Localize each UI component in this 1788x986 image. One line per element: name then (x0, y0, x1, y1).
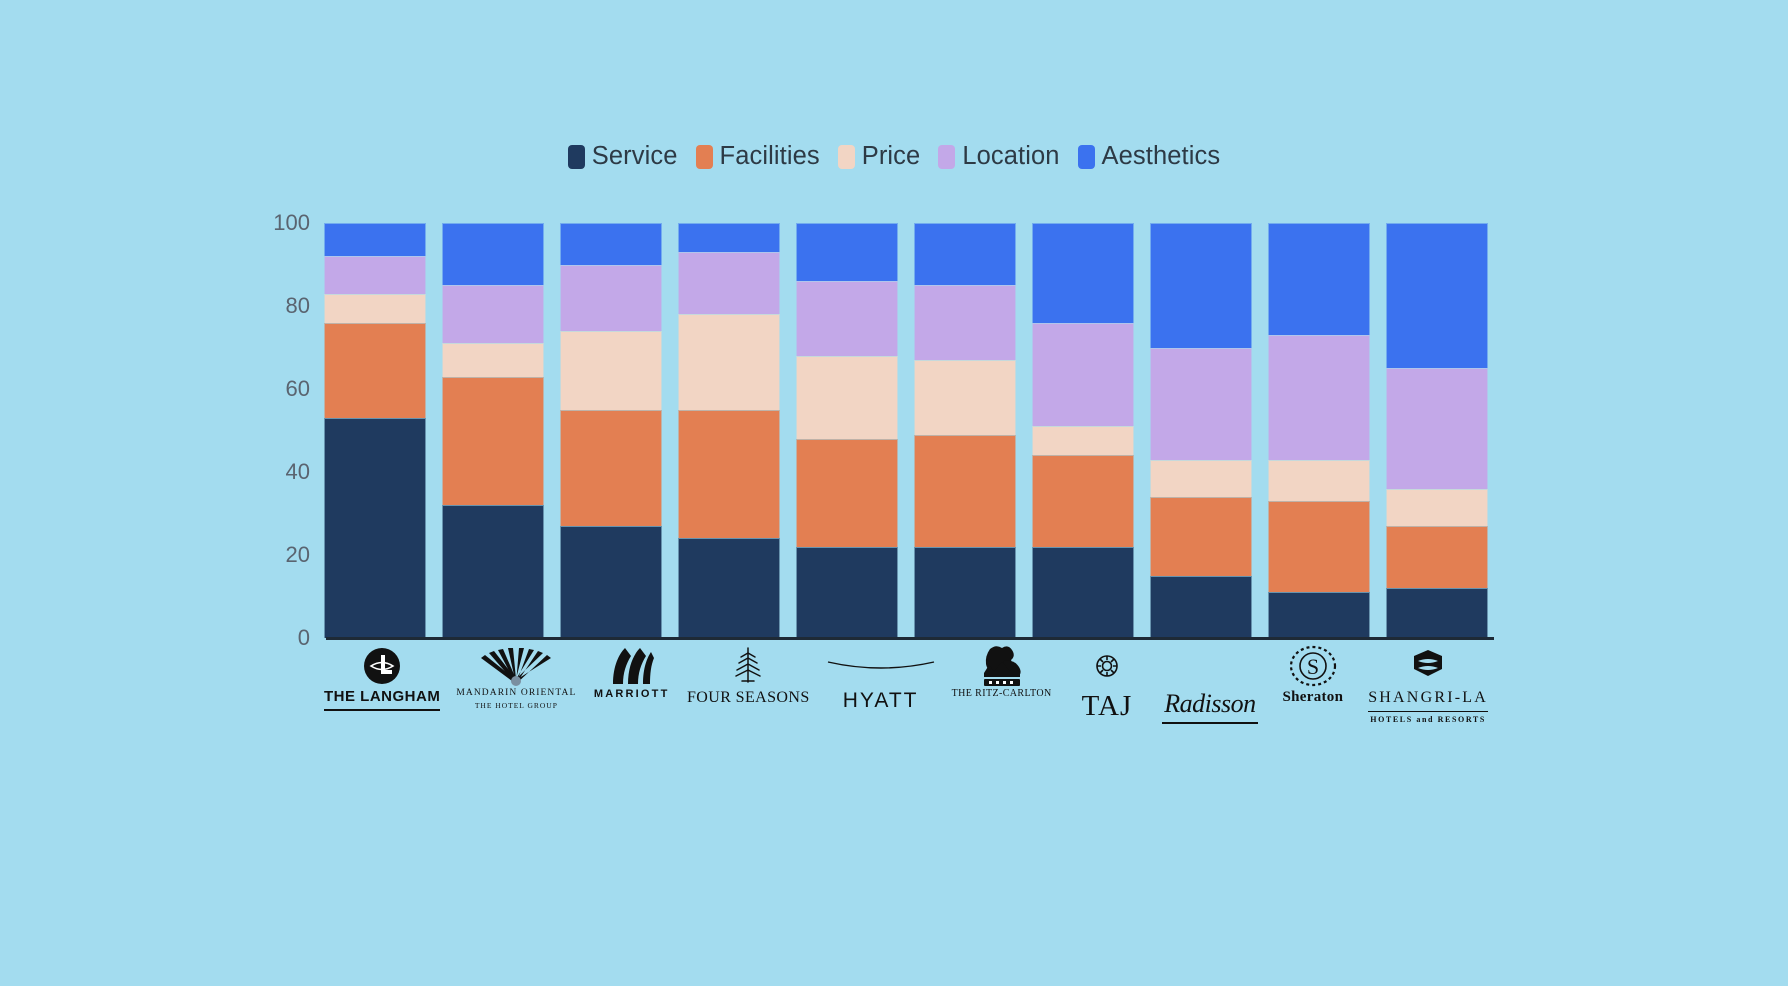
bar-segment-facilities[interactable] (1386, 526, 1488, 588)
bar-segment-aesthetics[interactable] (1386, 223, 1488, 368)
bar-segment-facilities[interactable] (1032, 455, 1134, 546)
legend-swatch-service (568, 145, 585, 169)
bar-segment-aesthetics[interactable] (442, 223, 544, 285)
bar-segment-aesthetics[interactable] (1150, 223, 1252, 348)
legend-swatch-facilities (696, 145, 713, 169)
bar-segment-aesthetics[interactable] (324, 223, 426, 256)
bar-segment-location[interactable] (1386, 368, 1488, 488)
svg-text:S: S (1307, 654, 1319, 679)
legend-label: Aesthetics (1102, 142, 1221, 171)
bar-column-radisson[interactable] (1150, 223, 1252, 638)
bar-segment-service[interactable] (678, 538, 780, 638)
hyatt-swoosh-icon (826, 644, 936, 688)
bar-segment-aesthetics[interactable] (678, 223, 780, 252)
marriott-m-icon (609, 644, 655, 688)
bar-segment-aesthetics[interactable] (560, 223, 662, 265)
bar-segment-facilities[interactable] (678, 410, 780, 539)
legend-swatch-price (838, 145, 855, 169)
legend-label: Price (862, 142, 921, 171)
legend-label: Service (592, 142, 678, 171)
y-axis-tick-60: 60 (258, 376, 310, 402)
bar-segment-location[interactable] (678, 252, 780, 314)
y-axis-tick-20: 20 (258, 542, 310, 568)
bar-segment-location[interactable] (914, 285, 1016, 360)
bar-column-the-langham[interactable] (324, 223, 426, 638)
brand-name-label: THE RITZ-CARLTON (952, 688, 1052, 701)
bar-segment-service[interactable] (914, 547, 1016, 638)
bar-segment-service[interactable] (796, 547, 898, 638)
legend-entry-facilities[interactable]: Facilities (696, 142, 820, 171)
bar-segment-service[interactable] (1032, 547, 1134, 638)
bar-segment-facilities[interactable] (324, 323, 426, 418)
bar-segment-location[interactable] (796, 281, 898, 356)
brand-name-label: TAJ (1082, 688, 1133, 724)
bar-segment-service[interactable] (324, 418, 426, 638)
bar-segment-price[interactable] (1150, 460, 1252, 497)
bar-segment-facilities[interactable] (442, 377, 544, 506)
legend-entry-location[interactable]: Location (938, 142, 1059, 171)
bar-segment-service[interactable] (1268, 592, 1370, 638)
brand-name-label: Radisson (1162, 688, 1257, 724)
bar-segment-location[interactable] (1032, 323, 1134, 427)
bar-segment-aesthetics[interactable] (1032, 223, 1134, 323)
brand-logo-hyatt: HYATT (826, 644, 936, 734)
bar-segment-price[interactable] (1268, 460, 1370, 502)
brand-logo-sheraton: SSheraton (1274, 644, 1353, 734)
brand-name-label: THE LANGHAM (324, 688, 440, 711)
brand-name-label: FOUR SEASONS (687, 688, 810, 708)
bar-segment-facilities[interactable] (560, 410, 662, 526)
bar-segment-service[interactable] (560, 526, 662, 638)
legend-swatch-aesthetics (1078, 145, 1095, 169)
bar-segment-price[interactable] (324, 294, 426, 323)
bar-column-hyatt[interactable] (796, 223, 898, 638)
bar-column-shangri-la[interactable] (1386, 223, 1488, 638)
brand-logo-radisson: Radisson (1162, 644, 1257, 734)
bar-segment-price[interactable] (796, 356, 898, 439)
brand-logo-the-langham: THE LANGHAM (324, 644, 440, 734)
taj-star-icon (1094, 644, 1120, 688)
y-axis-tick-0: 0 (258, 625, 310, 651)
legend-swatch-location (938, 145, 955, 169)
bar-segment-location[interactable] (1268, 335, 1370, 460)
bar-segment-facilities[interactable] (1268, 501, 1370, 592)
brand-logo-taj: TAJ (1068, 644, 1147, 734)
bar-segment-location[interactable] (442, 285, 544, 343)
brand-logo-marriott: MARRIOTT (592, 644, 671, 734)
bar-column-mandarin-oriental[interactable] (442, 223, 544, 638)
plot-area: 020406080100 (316, 223, 1496, 638)
brand-logo-shangri-la: SHANGRI-LAHOTELS and RESORTS (1368, 644, 1488, 734)
bar-segment-location[interactable] (324, 256, 426, 293)
bar-column-four-seasons[interactable] (678, 223, 780, 638)
bar-segment-service[interactable] (442, 505, 544, 638)
brand-logo-four-seasons: FOUR SEASONS (687, 644, 810, 734)
brand-name-label: Sheraton (1283, 688, 1344, 707)
bar-segment-service[interactable] (1150, 576, 1252, 638)
langham-monogram-icon (362, 644, 402, 688)
bar-column-the-ritz-carlton[interactable] (914, 223, 1016, 638)
shangri-la-emblem-icon (1410, 644, 1446, 688)
brand-tagline-label: HOTELS and RESORTS (1370, 715, 1486, 724)
brand-tagline-label: THE HOTEL GROUP (475, 701, 558, 710)
bar-segment-aesthetics[interactable] (914, 223, 1016, 285)
chart-legend: ServiceFacilitiesPriceLocationAesthetics (0, 142, 1788, 171)
y-axis-tick-100: 100 (258, 210, 310, 236)
bar-segment-price[interactable] (1032, 426, 1134, 455)
stacked-bar-chart: ServiceFacilitiesPriceLocationAesthetics… (0, 0, 1788, 986)
bar-segment-facilities[interactable] (796, 439, 898, 547)
brand-name-label: SHANGRI-LA (1368, 688, 1488, 712)
y-axis: 020406080100 (258, 223, 310, 638)
bar-segment-facilities[interactable] (914, 435, 1016, 547)
mandarin-fan-icon (477, 644, 555, 688)
bar-segment-price[interactable] (560, 331, 662, 410)
bar-segment-facilities[interactable] (1150, 497, 1252, 576)
legend-entry-price[interactable]: Price (838, 142, 921, 171)
brand-logo-mandarin-oriental: MANDARIN ORIENTALTHE HOTEL GROUP (456, 644, 576, 734)
four-seasons-tree-icon (728, 644, 768, 688)
bar-segment-price[interactable] (914, 360, 1016, 435)
bar-group (316, 223, 1496, 638)
bar-column-taj[interactable] (1032, 223, 1134, 638)
x-axis-brand-logos: THE LANGHAMMANDARIN ORIENTALTHE HOTEL GR… (316, 644, 1496, 734)
ritz-carlton-lion-icon (974, 644, 1030, 688)
bar-segment-price[interactable] (1386, 489, 1488, 526)
bar-segment-location[interactable] (1150, 348, 1252, 460)
y-axis-tick-40: 40 (258, 459, 310, 485)
brand-name-label: MARRIOTT (594, 688, 670, 702)
bar-column-sheraton[interactable] (1268, 223, 1370, 638)
legend-entry-service[interactable]: Service (568, 142, 678, 171)
brand-name-label: HYATT (843, 688, 919, 714)
bar-segment-location[interactable] (560, 265, 662, 331)
y-axis-tick-80: 80 (258, 293, 310, 319)
legend-entry-aesthetics[interactable]: Aesthetics (1078, 142, 1221, 171)
brand-logo-the-ritz-carlton: THE RITZ-CARLTON (952, 644, 1052, 734)
sheraton-wreath-icon: S (1287, 644, 1339, 688)
bar-segment-price[interactable] (442, 343, 544, 376)
bar-segment-aesthetics[interactable] (1268, 223, 1370, 335)
bar-segment-price[interactable] (678, 314, 780, 409)
bar-segment-service[interactable] (1386, 588, 1488, 638)
legend-label: Facilities (720, 142, 820, 171)
legend-label: Location (962, 142, 1059, 171)
x-axis-line (326, 637, 1494, 640)
bar-column-marriott[interactable] (560, 223, 662, 638)
brand-name-label: MANDARIN ORIENTAL (456, 688, 576, 700)
bar-segment-aesthetics[interactable] (796, 223, 898, 281)
